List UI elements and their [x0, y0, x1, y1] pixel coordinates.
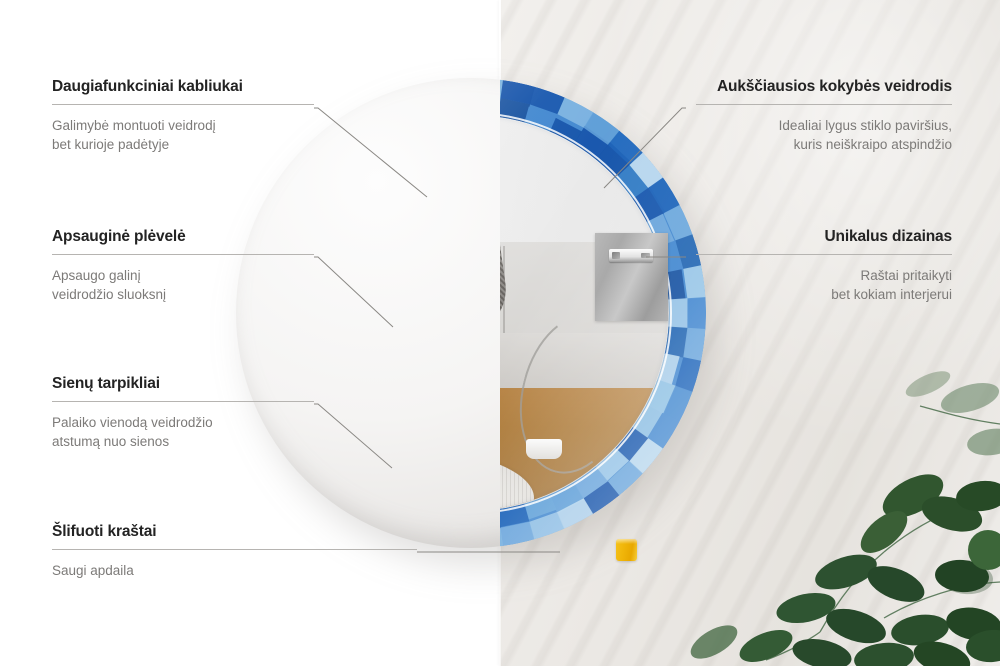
hook-slot-icon	[609, 249, 653, 262]
callout-rule	[52, 401, 314, 402]
mounting-hook-plate	[595, 233, 668, 321]
callout-rule	[52, 254, 314, 255]
callout-rule	[52, 104, 314, 105]
callout-title: Apsauginė plėvelė	[52, 228, 314, 247]
callout-polished-edges: Šlifuoti kraštai Saugi apdaila	[52, 523, 417, 580]
callout-description: Saugi apdaila	[52, 561, 417, 580]
callout-rule	[52, 549, 417, 550]
callout-description: Galimybė montuoti veidrodį bet kurioje p…	[52, 116, 314, 154]
callout-rule	[696, 104, 952, 105]
callout-description: Apsaugo galinį veidrodžio sluoksnį	[52, 266, 314, 304]
product-infographic: Daugiafunkciniai kabliukai Galimybė mont…	[0, 0, 1000, 666]
callout-title: Sienų tarpikliai	[52, 375, 314, 394]
callout-rule	[696, 254, 952, 255]
plant-foliage	[670, 346, 1000, 666]
callout-description: Idealiai lygus stiklo paviršius, kuris n…	[696, 116, 952, 154]
leaf-cluster	[685, 366, 1000, 666]
callout-hooks: Daugiafunkciniai kabliukai Galimybė mont…	[52, 78, 314, 154]
callout-title: Šlifuoti kraštai	[52, 523, 417, 542]
callout-wall-spacers: Sienų tarpikliai Palaiko vienodą veidrod…	[52, 375, 314, 451]
callout-description: Palaiko vienodą veidrodžio atstumą nuo s…	[52, 413, 314, 451]
callout-protective-film: Apsauginė plėvelė Apsaugo galinį veidrod…	[52, 228, 314, 304]
callout-title: Aukščiausios kokybės veidrodis	[696, 78, 952, 97]
callout-description: Raštai pritaikyti bet kokiam interjerui	[696, 266, 952, 304]
callout-unique-design: Unikalus dizainas Raštai pritaikyti bet …	[696, 228, 952, 304]
wall-spacer	[616, 539, 637, 561]
callout-title: Unikalus dizainas	[696, 228, 952, 247]
callout-premium-mirror: Aukščiausios kokybės veidrodis Idealiai …	[696, 78, 952, 154]
callout-title: Daugiafunkciniai kabliukai	[52, 78, 314, 97]
